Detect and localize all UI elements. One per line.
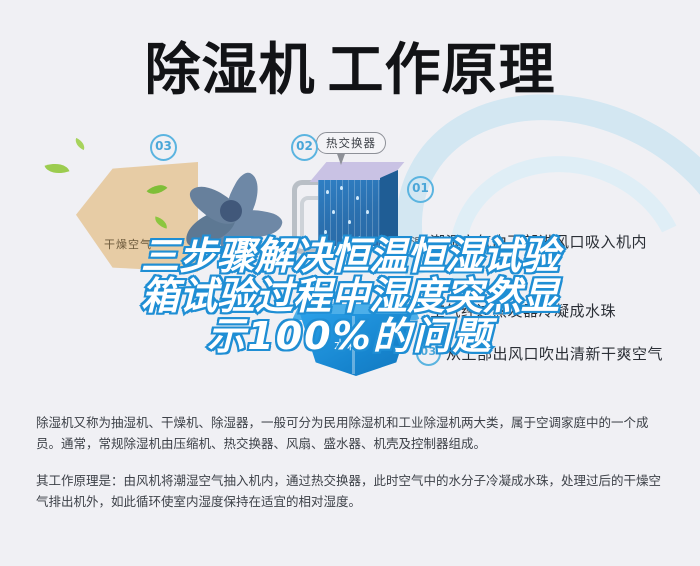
page-title-part2: 工作原理 xyxy=(328,38,556,103)
dry-air-label: 干燥空气 xyxy=(104,236,152,252)
fan-icon xyxy=(182,156,292,276)
body-copy: 除湿机又称为抽湿机、干燥机、除湿器，一般可分为民用除湿机和工业除湿机两大类，属于… xyxy=(0,412,700,528)
body-paragraph-2: 其工作原理是：由风机将潮湿空气抽入机内，通过热交换器，此时空气中的水分子冷凝成水… xyxy=(0,470,700,512)
heat-exchanger-callout: 热交换器 xyxy=(316,132,386,154)
step-number-03: 03 xyxy=(150,134,177,161)
caption-02: 空气经过蒸发器冷凝成水珠 xyxy=(430,300,616,321)
infographic-page: 除湿机工作原理 干燥空气 xyxy=(0,0,700,566)
dry-air-arrow xyxy=(76,162,198,272)
leaf-icon xyxy=(73,138,87,150)
step-number-02: 02 xyxy=(291,134,318,161)
page-title-part1: 除湿机 xyxy=(145,38,316,103)
step-number-01: 01 xyxy=(407,176,434,203)
fan-hub xyxy=(220,200,242,222)
condensation-droplets xyxy=(318,180,380,246)
heat-exchanger-side xyxy=(380,170,398,244)
body-paragraph-1: 除湿机又称为抽湿机、干燥机、除湿器，一般可分为民用除湿机和工业除湿机两大类，属于… xyxy=(0,412,700,454)
caption-03-row: 03 从上部出风口吹出清新干爽空气 xyxy=(416,341,663,366)
water-tank-label: 水箱 xyxy=(334,336,360,353)
caption-03-text: 从上部出风口吹出清新干爽空气 xyxy=(446,343,663,364)
caption-01: 潮湿空气由下部进风口吸入机内 xyxy=(430,231,647,252)
leaf-icon xyxy=(45,159,70,178)
page-title: 除湿机工作原理 xyxy=(145,43,556,99)
caption-badge-03: 03 xyxy=(416,341,441,366)
